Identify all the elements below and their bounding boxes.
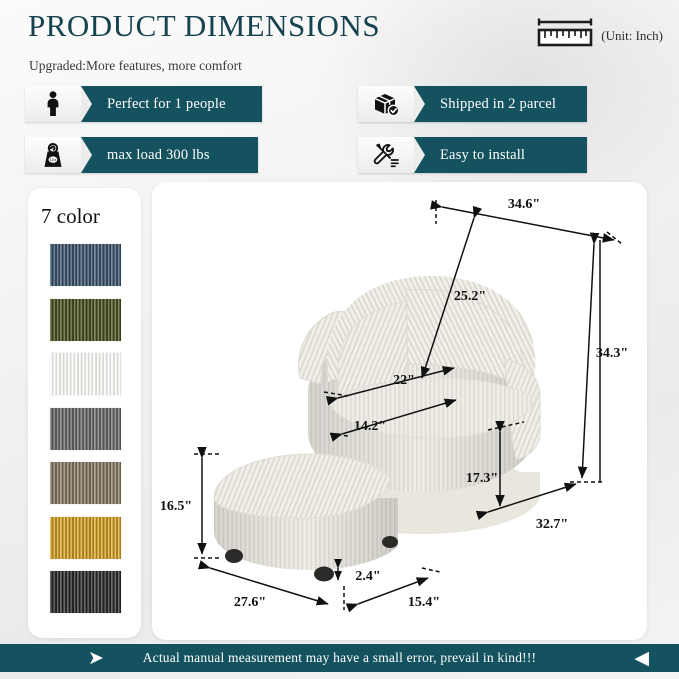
page-subtitle: Upgraded:More features, more comfort [29,58,242,74]
feature-badge-install: Easy to install [358,137,587,173]
footer-note: Actual manual measurement may have a sma… [143,650,537,666]
corduroy-texture [50,353,121,395]
dim-seat-width: 14.2" [354,419,386,434]
corduroy-texture [50,462,121,504]
unit-indicator: (Unit: Inch) [536,16,663,55]
color-swatch-black[interactable] [50,571,121,613]
arrow-left-icon: ◀ [634,649,649,668]
feature-badge-people: Perfect for 1 people [25,86,262,122]
color-swatch-olive-green[interactable] [50,299,121,341]
color-count-heading: 7 color [41,204,100,229]
feature-label-install: Easy to install [414,137,587,173]
corduroy-texture [50,244,121,286]
color-swatch-mustard[interactable] [50,517,121,559]
dim-chair-overall-depth: 32.7" [536,517,568,532]
corduroy-texture [50,571,121,613]
unit-label: (Unit: Inch) [601,28,663,44]
product-image-panel: 34.6" 25.2" 34.3" 32.7" 22" 14.2" 17.3" … [152,182,647,640]
corduroy-texture [50,517,121,559]
dim-chair-overall-height: 34.3" [596,346,628,361]
arrow-right-icon: ➤ [88,649,104,668]
dim-chair-back-height: 25.2" [454,289,486,304]
feature-label-people: Perfect for 1 people [81,86,262,122]
weight-icon-text: Lbs [50,157,57,162]
dim-chair-overall-width: 34.6" [508,197,540,212]
dim-ottoman-leg-height: 2.4" [355,569,380,584]
person-icon [25,86,81,122]
infographic-root: PRODUCT DIMENSIONS (Unit: [0,0,679,679]
ruler-icon [536,16,594,55]
dim-ottoman-height: 16.5" [160,499,192,514]
color-swatch-navy-blue[interactable] [50,244,121,286]
color-swatch-panel: 7 color [28,188,141,638]
box-check-icon [358,86,414,122]
dim-seat-depth: 22" [393,373,415,388]
color-swatch-list [50,244,121,613]
feature-label-load: max load 300 lbs [81,137,258,173]
feature-badge-load: Lbs max load 300 lbs [25,137,258,173]
feature-label-parcel: Shipped in 2 parcel [414,86,587,122]
color-swatch-taupe-khaki[interactable] [50,462,121,504]
footer-banner: ➤ Actual manual measurement may have a s… [0,644,679,672]
dim-ottoman-depth: 15.4" [408,595,440,610]
color-swatch-ivory-white[interactable] [50,353,121,395]
page-title: PRODUCT DIMENSIONS [28,8,380,44]
color-swatch-gray[interactable] [50,408,121,450]
dim-seat-height: 17.3" [466,471,498,486]
weight-icon: Lbs [25,137,81,173]
corduroy-texture [50,299,121,341]
dim-ottoman-width: 27.6" [234,595,266,610]
feature-badge-parcel: Shipped in 2 parcel [358,86,587,122]
product-illustration: 34.6" 25.2" 34.3" 32.7" 22" 14.2" 17.3" … [152,182,647,640]
corduroy-texture [50,408,121,450]
tools-icon [358,137,414,173]
